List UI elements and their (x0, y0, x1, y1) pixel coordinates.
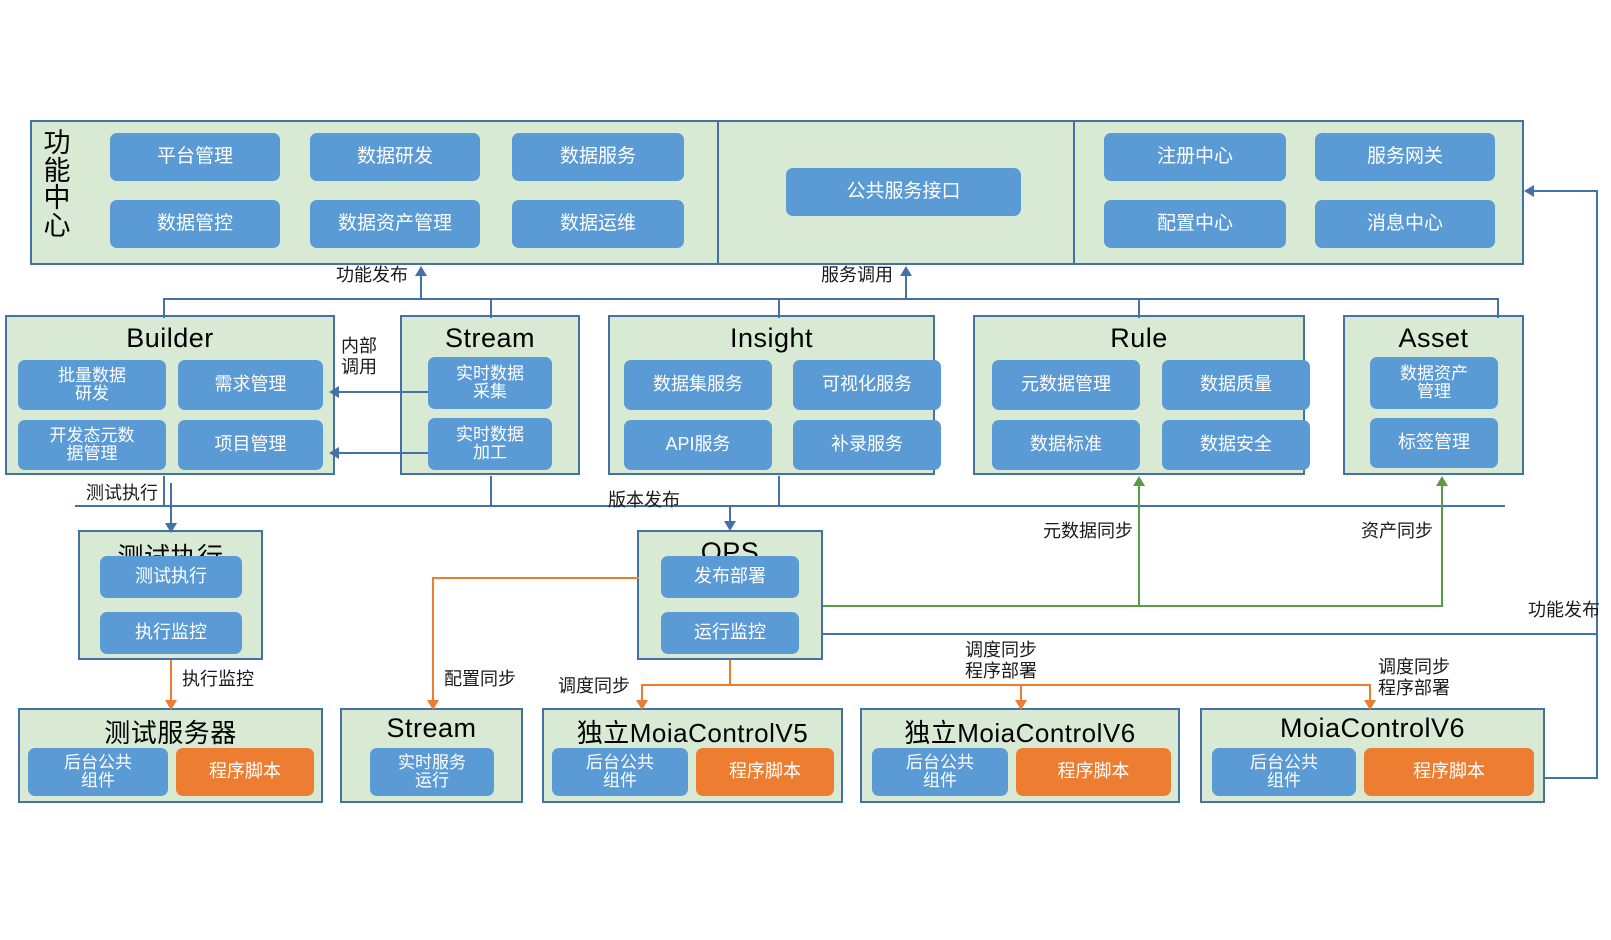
arrow-head-test-execute (165, 523, 177, 533)
chip-data-asset-mgmt[interactable]: 数据资产 管理 (1370, 357, 1498, 409)
orange-config-bus (432, 577, 639, 579)
arrow-head-schedule-deploy-mid (1015, 700, 1027, 710)
server-stream-title: Stream (342, 713, 521, 744)
function-center-side-label: 功 能 中 心 (38, 130, 76, 240)
chip-data-standard[interactable]: 数据标准 (992, 420, 1140, 470)
edge-label-asset-sync: 资产同步 (1323, 521, 1433, 542)
bus-modules-bottom (75, 505, 1505, 507)
edge-label-internal-call: 内部 调用 (341, 336, 397, 377)
edge-label-test-execute: 测试执行 (40, 483, 158, 504)
edge-label-schedule-deploy-right: 调度同步 程序部署 (1378, 657, 1508, 699)
edge-stream-to-builder-bottom (338, 452, 428, 454)
chip-data-security[interactable]: 数据安全 (1162, 420, 1310, 470)
arrow-head-config-sync (427, 700, 439, 710)
chip-dev-metadata-management[interactable]: 开发态元数 据管理 (18, 420, 166, 470)
chip-program-script-2[interactable]: 程序脚本 (696, 748, 834, 796)
chip-data-asset-management[interactable]: 数据资产管理 (310, 200, 480, 248)
arrow-stem-function-publish (420, 275, 422, 299)
band-divider-1 (717, 122, 719, 263)
chip-realtime-service-running[interactable]: 实时服务 运行 (370, 748, 494, 796)
chip-requirement-management[interactable]: 需求管理 (178, 360, 323, 410)
chip-batch-data-development[interactable]: 批量数据 研发 (18, 360, 166, 410)
riser-rule (1138, 298, 1140, 318)
chip-data-quality[interactable]: 数据质量 (1162, 360, 1310, 410)
riser-asset (1497, 298, 1499, 318)
chip-backend-common-components-2[interactable]: 后台公共 组件 (552, 748, 688, 796)
green-riser-rule (1138, 484, 1140, 605)
arrow-head-function-publish (415, 266, 427, 276)
edge-label-schedule-sync: 调度同步 (512, 676, 630, 697)
chip-platform-management[interactable]: 平台管理 (110, 133, 280, 181)
chip-backfill-service[interactable]: 补录服务 (793, 420, 941, 470)
arrow-head-asset-sync (1436, 476, 1448, 486)
chip-registry-center[interactable]: 注册中心 (1104, 133, 1286, 181)
arrow-head-service-call (900, 266, 912, 276)
blue-return-into-band (1534, 190, 1598, 192)
chip-tag-management[interactable]: 标签管理 (1370, 418, 1498, 468)
arrow-stem-test-execute (170, 483, 172, 525)
arrow-head-schedule-deploy-right (1364, 700, 1376, 710)
dropper-builder (163, 476, 165, 505)
chip-backend-common-components-1[interactable]: 后台公共 组件 (28, 748, 168, 796)
chip-data-development[interactable]: 数据研发 (310, 133, 480, 181)
band-divider-2 (1073, 122, 1075, 263)
edge-label-function-publish-top: 功能发布 (270, 265, 408, 286)
chip-service-gateway[interactable]: 服务网关 (1315, 133, 1495, 181)
chip-backend-common-components-3[interactable]: 后台公共 组件 (872, 748, 1008, 796)
edge-label-version-publish: 版本发布 (608, 490, 728, 511)
server-moiacontrolv6-title: MoiaControlV6 (1202, 713, 1543, 744)
orange-exec-monitor (170, 660, 172, 704)
green-riser-asset (1441, 484, 1443, 605)
chip-program-script-1[interactable]: 程序脚本 (176, 748, 314, 796)
chip-realtime-data-collection[interactable]: 实时数据 采集 (428, 357, 552, 409)
arrow-stem-service-call (905, 275, 907, 299)
chip-visualization-service[interactable]: 可视化服务 (793, 360, 941, 410)
orange-ops-bus (641, 684, 1370, 686)
edge-label-exec-monitor: 执行监控 (182, 669, 302, 690)
chip-data-service[interactable]: 数据服务 (512, 133, 684, 181)
server-standalone-moiacontrolv6-title: 独立MoiaControlV6 (862, 713, 1178, 750)
edge-stream-to-builder-top (338, 391, 428, 393)
edge-label-schedule-deploy-mid: 调度同步 程序部署 (965, 640, 1095, 682)
blue-return-riser (1596, 190, 1598, 633)
chip-config-center[interactable]: 配置中心 (1104, 200, 1286, 248)
chip-release-deploy[interactable]: 发布部署 (661, 556, 799, 598)
chip-backend-common-components-4[interactable]: 后台公共 组件 (1212, 748, 1356, 796)
blue-bottom-return (1545, 777, 1598, 779)
edge-label-function-publish-right: 功能发布 (1460, 600, 1600, 621)
chip-metadata-management[interactable]: 元数据管理 (992, 360, 1140, 410)
orange-config-drop (432, 577, 434, 704)
chip-program-script-4[interactable]: 程序脚本 (1364, 748, 1534, 796)
blue-bottom-riser (1596, 633, 1598, 779)
edge-label-service-call: 服务调用 (755, 265, 893, 286)
chip-execution-monitor[interactable]: 执行监控 (100, 612, 242, 654)
blue-return-top-run-monitor (823, 633, 1598, 635)
module-asset-title: Asset (1345, 323, 1522, 354)
bus-modules-top (163, 298, 1498, 300)
arrow-head-internal-call-bottom (329, 447, 339, 459)
chip-message-center[interactable]: 消息中心 (1315, 200, 1495, 248)
architecture-diagram: 功 能 中 心 平台管理 数据研发 数据服务 数据管控 数据资产管理 数据运维 … (0, 0, 1611, 940)
riser-insight (778, 298, 780, 318)
arrow-head-internal-call-top (329, 386, 339, 398)
arrow-head-version-publish (724, 521, 736, 531)
chip-runtime-monitor[interactable]: 运行监控 (661, 612, 799, 654)
arrow-head-exec-monitor (165, 700, 177, 710)
arrow-head-function-publish-right (1524, 185, 1534, 197)
riser-stream (490, 298, 492, 318)
dropper-stream2 (490, 476, 492, 505)
server-standalone-moiacontrolv5-title: 独立MoiaControlV5 (544, 713, 841, 750)
server-test-server-title: 测试服务器 (20, 713, 321, 750)
riser-builder (163, 298, 165, 318)
module-insight-title: Insight (610, 323, 933, 354)
chip-realtime-data-processing[interactable]: 实时数据 加工 (428, 418, 552, 470)
edge-label-metadata-sync: 元数据同步 (1015, 521, 1133, 542)
orange-ops-drop (729, 660, 731, 684)
chip-project-management[interactable]: 项目管理 (178, 420, 323, 470)
chip-program-script-3[interactable]: 程序脚本 (1016, 748, 1171, 796)
module-stream-title: Stream (402, 323, 578, 354)
module-builder-title: Builder (7, 323, 333, 354)
module-rule-title: Rule (975, 323, 1303, 354)
chip-test-execution[interactable]: 测试执行 (100, 556, 242, 598)
chip-data-operations[interactable]: 数据运维 (512, 200, 684, 248)
chip-dataset-service[interactable]: 数据集服务 (624, 360, 772, 410)
arrow-head-metadata-sync (1133, 476, 1145, 486)
dropper-insight (778, 476, 780, 505)
arrow-head-schedule-sync-v5 (636, 700, 648, 710)
chip-api-service[interactable]: API服务 (624, 420, 772, 470)
chip-data-governance[interactable]: 数据管控 (110, 200, 280, 248)
green-bus (823, 605, 1443, 607)
chip-public-service-interface[interactable]: 公共服务接口 (786, 168, 1021, 216)
